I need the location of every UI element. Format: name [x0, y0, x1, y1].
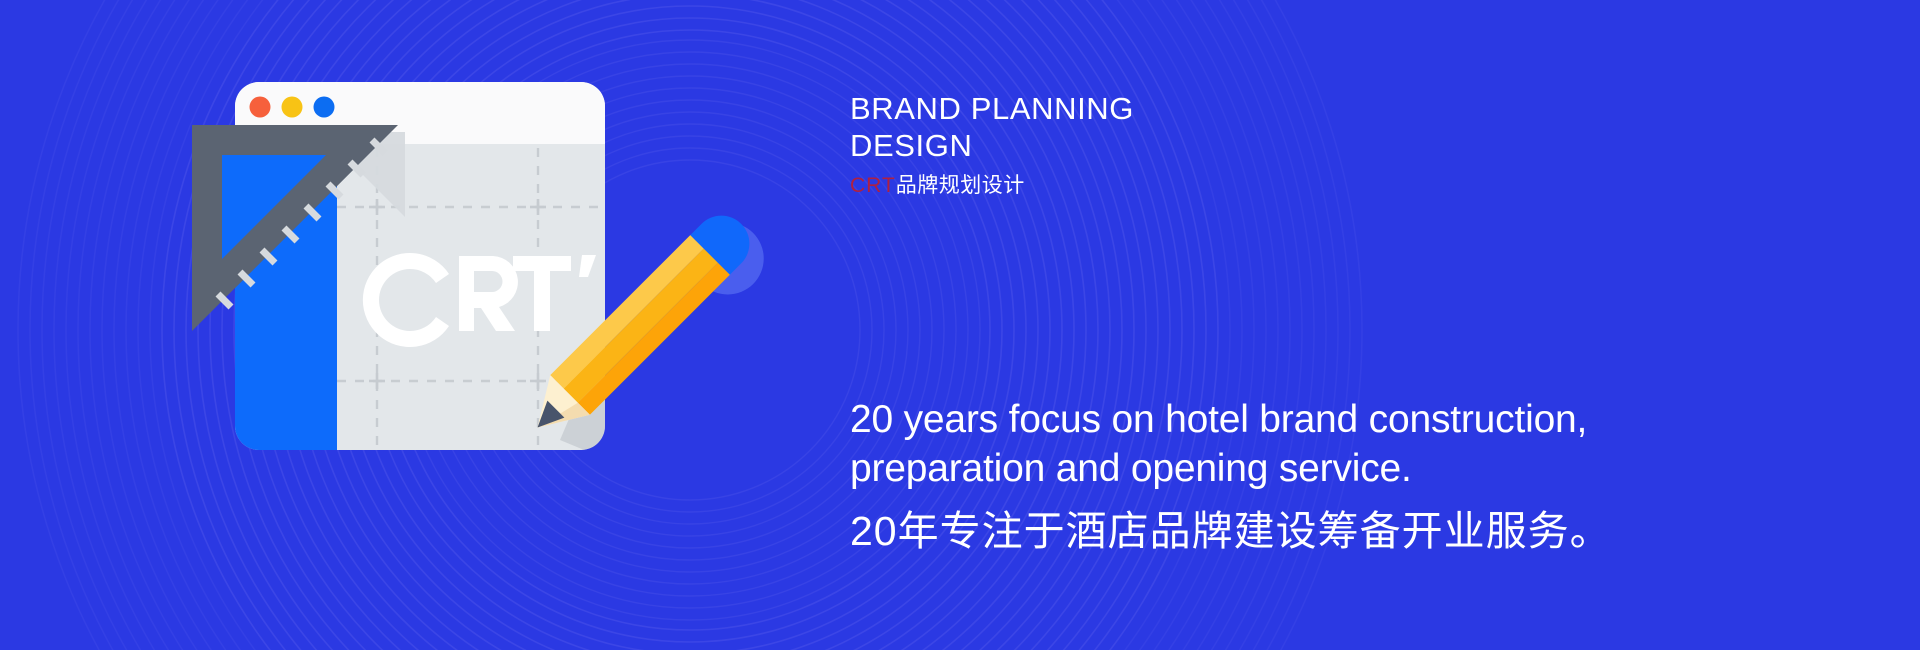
heading-block: BRAND PLANNING DESIGN CRT品牌规划设计	[850, 90, 1134, 199]
tagline-chinese: 20年专注于酒店品牌建设筹备开业服务。	[850, 505, 1850, 557]
maximize-dot[interactable]	[314, 97, 335, 118]
tagline-english: 20 years focus on hotel brand constructi…	[850, 395, 1850, 493]
brand-banner: BRAND PLANNING DESIGN CRT品牌规划设计 20 years…	[0, 0, 1920, 650]
close-dot[interactable]	[250, 97, 271, 118]
heading-english: BRAND PLANNING DESIGN	[850, 90, 1134, 164]
brand-mark-crt: CRT	[850, 174, 896, 197]
tagline-block: 20 years focus on hotel brand constructi…	[850, 395, 1850, 557]
minimize-dot[interactable]	[282, 97, 303, 118]
heading-chinese-text: 品牌规划设计	[896, 174, 1025, 197]
brand-design-illustration	[0, 0, 900, 650]
banner-text-column: BRAND PLANNING DESIGN CRT品牌规划设计 20 years…	[850, 0, 1920, 650]
heading-chinese-line: CRT品牌规划设计	[850, 173, 1134, 199]
